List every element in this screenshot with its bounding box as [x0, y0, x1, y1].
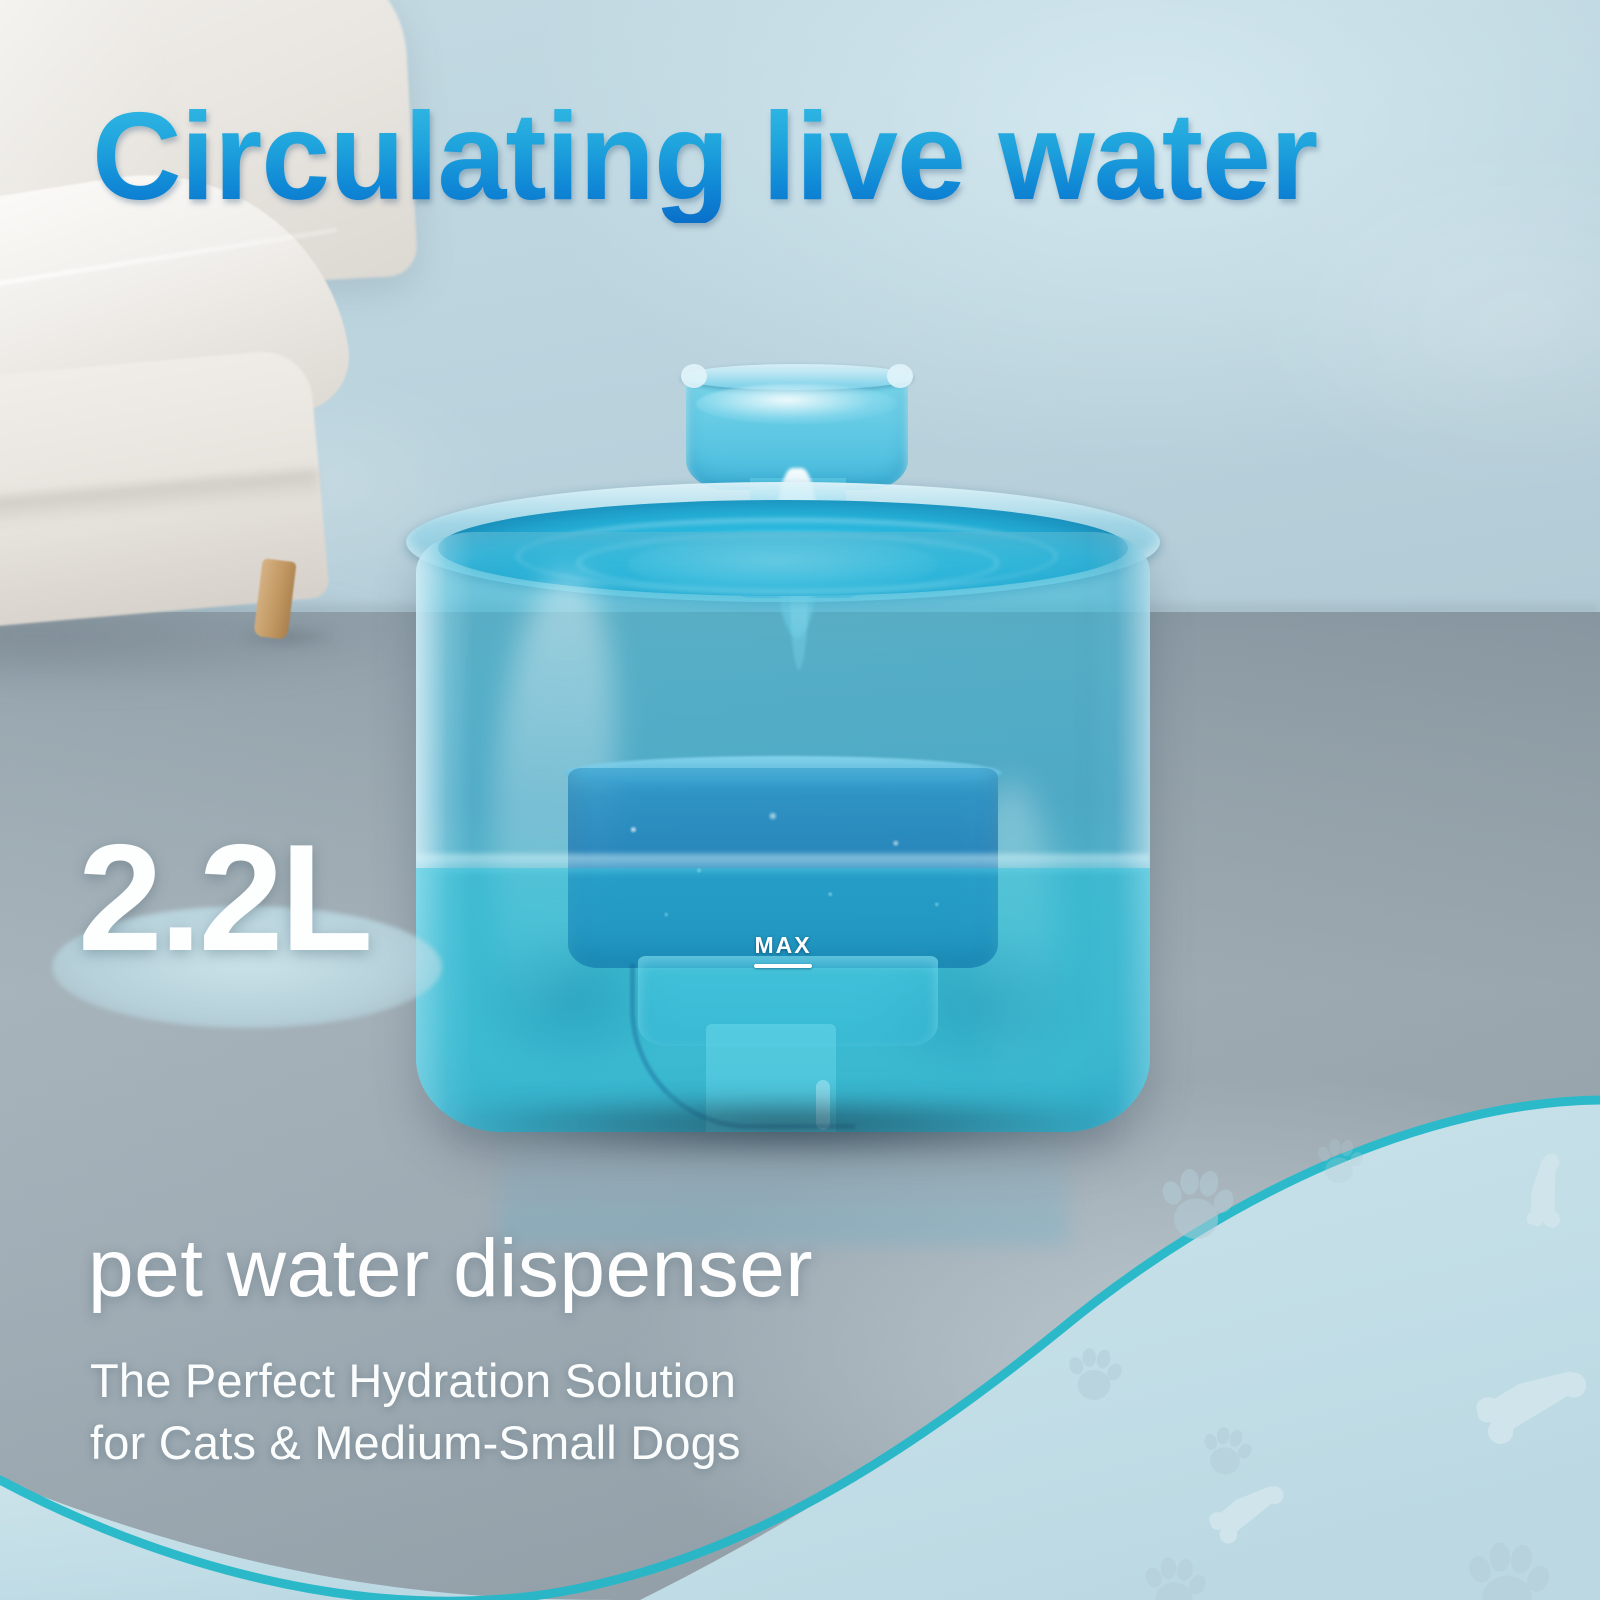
pet-water-fountain-product: MAX MIN [398, 360, 1168, 1150]
subtitle-line-1: The Perfect Hydration Solution [90, 1350, 990, 1412]
page-title: Circulating live water [92, 92, 1352, 223]
max-level-underline [754, 964, 812, 968]
decorative-curve-panel [0, 1040, 1600, 1600]
fountain-spout-notch-left [681, 364, 707, 388]
product-banner: Circulating live water [0, 0, 1600, 1600]
fountain-spout-water-surface [696, 384, 898, 424]
fountain-spout-notch-right [887, 364, 913, 388]
capacity-badge-value: 2.2L [78, 822, 458, 974]
curve-panel-tail [0, 1480, 640, 1600]
product-subtitle: The Perfect Hydration Solution for Cats … [90, 1350, 990, 1474]
max-level-label: MAX [754, 932, 811, 958]
subtitle-line-2: for Cats & Medium-Small Dogs [90, 1412, 990, 1474]
product-name: pet water dispenser [88, 1228, 1088, 1310]
max-level-marker: MAX [698, 932, 868, 968]
